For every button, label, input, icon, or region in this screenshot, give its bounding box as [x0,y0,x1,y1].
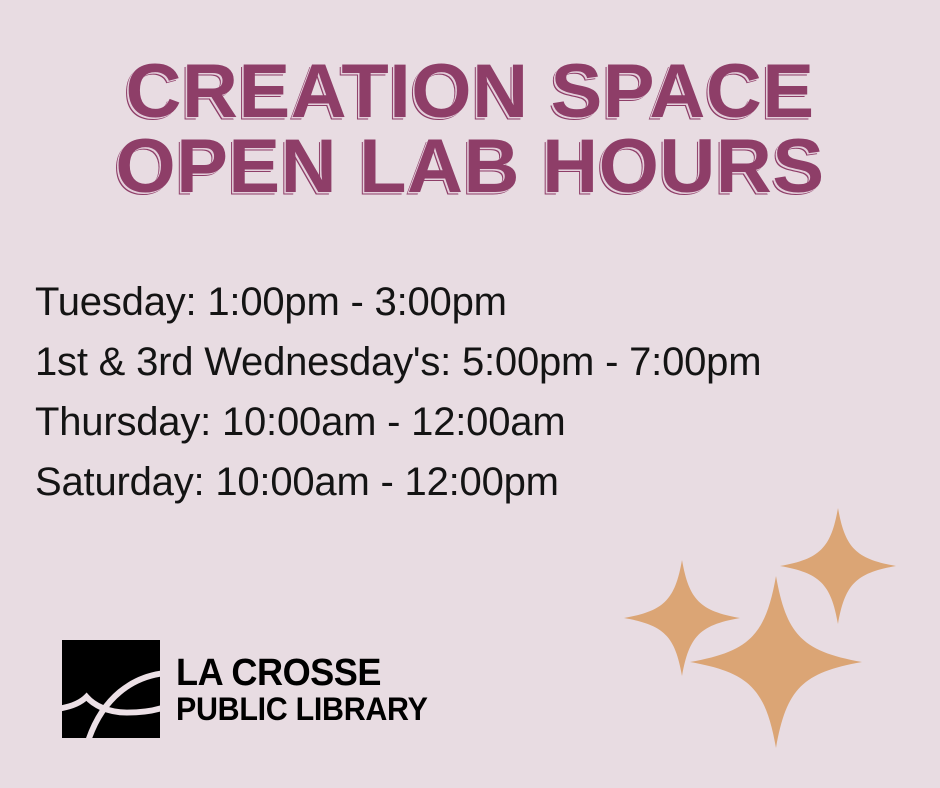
hours-line-saturday: Saturday: 10:00am - 12:00pm [35,452,925,512]
title-line-2: OPEN LAB HOURS [0,131,940,204]
hours-line-tuesday: Tuesday: 1:00pm - 3:00pm [35,272,925,332]
title-line-1: CREATION SPACE [0,56,940,129]
hours-line-thursday: Thursday: 10:00am - 12:00am [35,392,925,452]
hours-line-wednesday: 1st & 3rd Wednesday's: 5:00pm - 7:00pm [35,332,925,392]
poster-canvas: CREATION SPACE OPEN LAB HOURS Tuesday: 1… [0,0,940,788]
poster-title: CREATION SPACE OPEN LAB HOURS [0,56,940,204]
logo-word-public-library: PUBLIC LIBRARY [176,692,428,726]
logo-wordmark: LA CROSSE PUBLIC LIBRARY [176,652,441,726]
library-logo-mark-icon [62,640,160,738]
sparkle-star-bottom-center [690,576,862,748]
logo-word-la-crosse: LA CROSSE [176,654,428,692]
open-lab-hours-list: Tuesday: 1:00pm - 3:00pm 1st & 3rd Wedne… [35,272,925,512]
la-crosse-public-library-logo: LA CROSSE PUBLIC LIBRARY [62,640,441,738]
